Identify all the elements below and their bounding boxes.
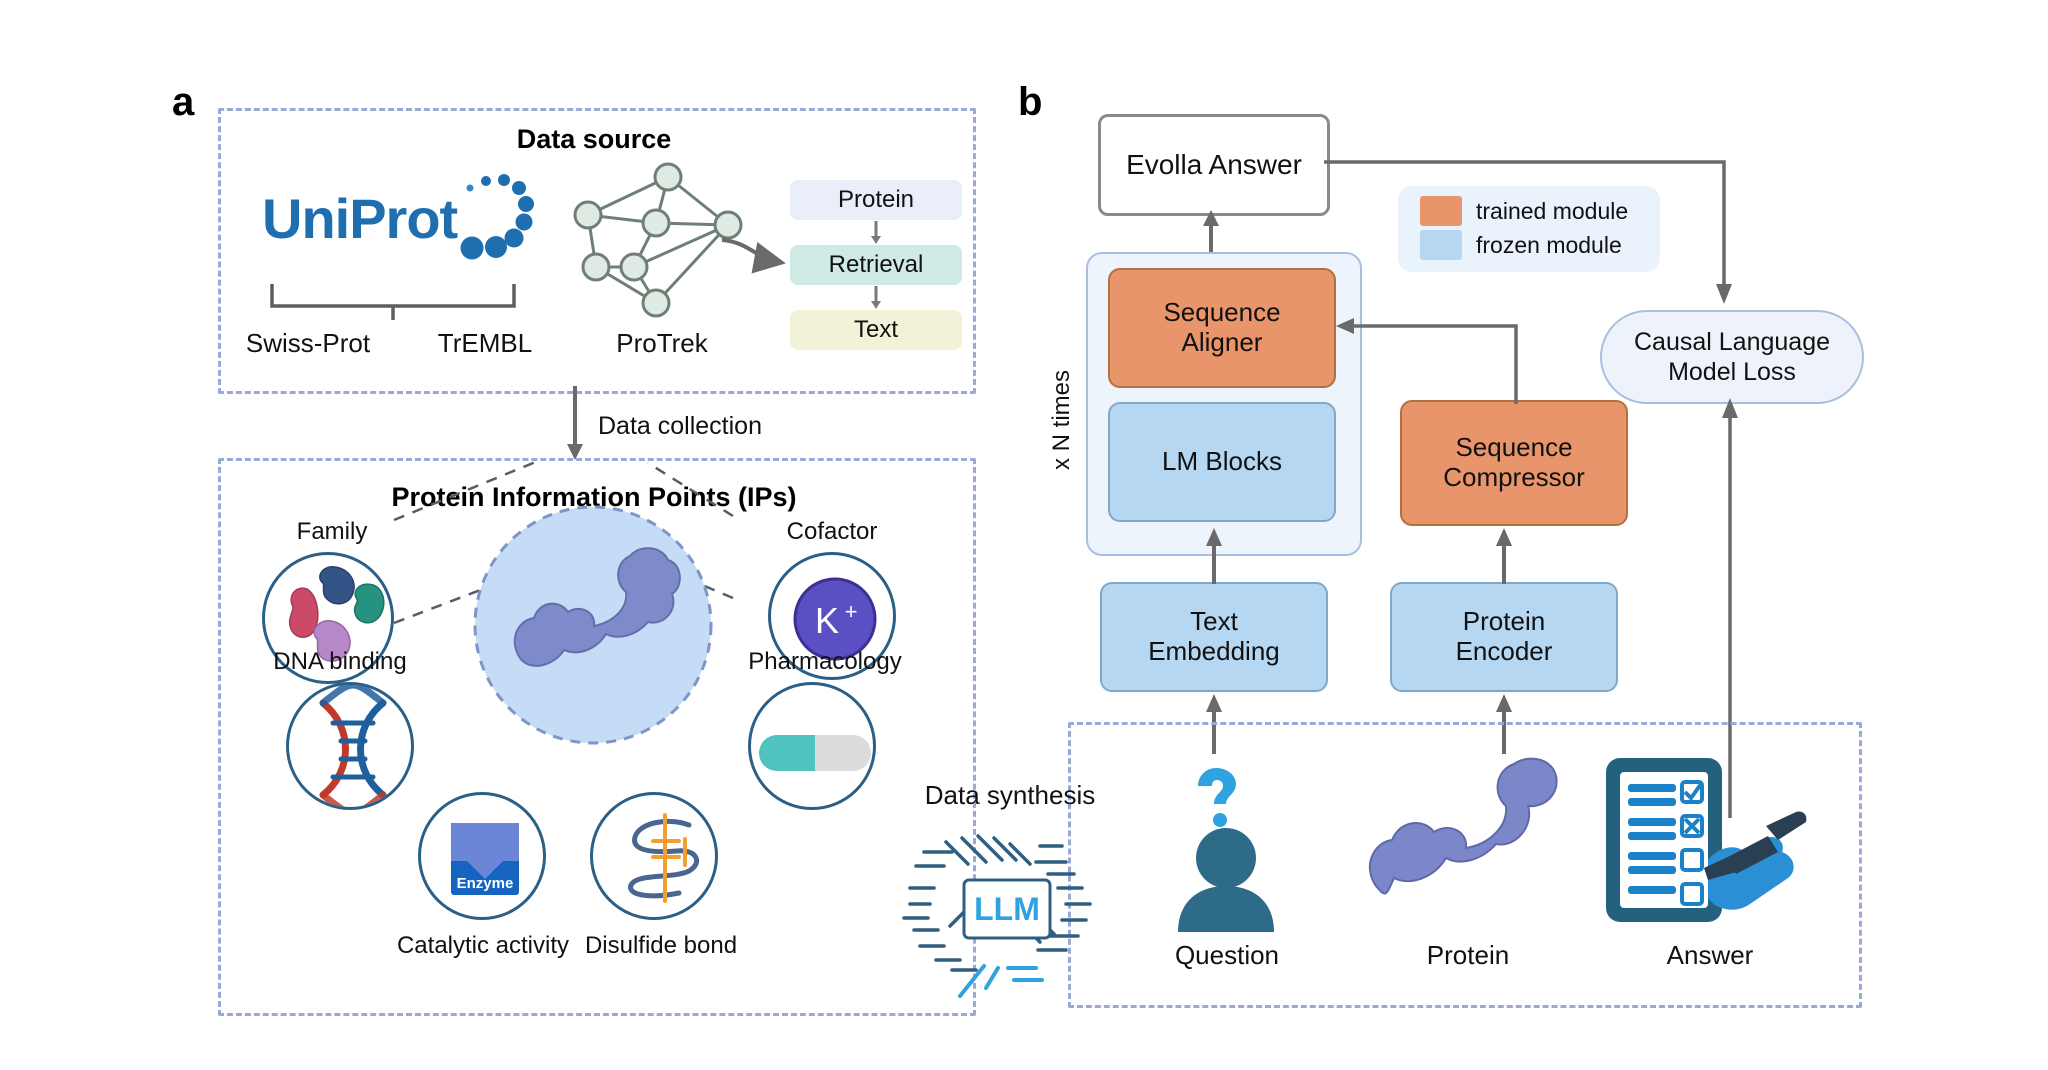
data-synthesis-label: Data synthesis [900, 780, 1120, 811]
data-collection-arrow [560, 386, 590, 460]
checklist-hand-icon [1590, 752, 1810, 932]
source-label-swiss-prot: Swiss-Prot [218, 328, 398, 359]
text-embedding-to-lm-arrow [1201, 528, 1227, 584]
person-question-icon [1162, 762, 1292, 932]
protein-structure-icon [1358, 756, 1558, 926]
compressor-to-aligner-arrow [1330, 312, 1520, 408]
lm-blocks-label: LM Blocks [1162, 447, 1282, 477]
sequence-aligner-block: Sequence Aligner [1108, 268, 1336, 388]
pipeline-box-protein: Protein [790, 180, 962, 220]
data-source-title: Data source [218, 124, 970, 155]
ip-label-family: Family [262, 518, 402, 546]
protein-encoder-label-line1: Protein [1463, 607, 1545, 637]
sequence-aligner-label-line2: Aligner [1182, 328, 1263, 358]
disulfide-bond-icon [590, 792, 718, 920]
svg-text:K: K [815, 600, 839, 641]
protein-encoder-block: Protein Encoder [1390, 582, 1618, 692]
question-label: Question [1162, 940, 1292, 971]
protein-label: Protein [1398, 940, 1538, 971]
sequence-compressor-label-line1: Sequence [1455, 433, 1572, 463]
dna-helix-icon [286, 682, 414, 810]
causal-lm-loss-box: Causal Language Model Loss [1600, 310, 1864, 404]
answer-to-loss-connector [1324, 158, 1754, 318]
text-embedding-label-line1: Text [1190, 607, 1238, 637]
uniprot-logo: UniProt [258, 166, 538, 276]
llm-brain-icon: LLM [890, 818, 1120, 998]
sequence-compressor-block: Sequence Compressor [1400, 400, 1628, 526]
central-protein-hub [468, 500, 718, 750]
svg-text:+: + [845, 599, 858, 624]
sequence-aligner-label-line1: Sequence [1163, 298, 1280, 328]
protein-encoder-label-line2: Encoder [1456, 637, 1553, 667]
panel-a-letter: a [172, 80, 194, 125]
ip-label-pharmacology: Pharmacology [700, 648, 950, 676]
evolla-answer-box: Evolla Answer [1098, 114, 1330, 216]
capsule-pill-icon [748, 682, 876, 810]
ip-label-catalytic-activity: Catalytic activity [372, 932, 594, 960]
answer-label: Answer [1640, 940, 1780, 971]
protein-encoder-to-compressor-arrow [1491, 528, 1517, 584]
pipeline-box-text: Text [790, 310, 962, 350]
data-collection-label: Data collection [598, 412, 762, 441]
lm-blocks-block: LM Blocks [1108, 402, 1336, 522]
ip-label-disulfide-bond: Disulfide bond [566, 932, 756, 960]
protrek-to-pipeline-arrow [720, 230, 800, 290]
repeat-n-times-label: x N times [1048, 310, 1076, 470]
ip-label-cofactor: Cofactor [742, 518, 922, 546]
protrek-label: ProTrek [562, 328, 762, 359]
source-label-trembl: TrEMBL [400, 328, 570, 359]
ip-label-dna-binding: DNA binding [240, 648, 440, 676]
pipeline-arrow-1 [866, 221, 886, 245]
sequence-compressor-label-line2: Compressor [1443, 463, 1585, 493]
svg-text:LLM: LLM [974, 891, 1040, 927]
svg-text:UniProt: UniProt [262, 187, 458, 250]
pipeline-label-protein: Protein [838, 186, 914, 214]
pipeline-label-retrieval: Retrieval [829, 251, 924, 279]
causal-lm-loss-label-line2: Model Loss [1668, 357, 1796, 387]
svg-text:Enzyme: Enzyme [457, 875, 514, 892]
pipeline-arrow-2 [866, 286, 886, 310]
evolla-answer-label: Evolla Answer [1126, 149, 1302, 181]
panel-b-letter: b [1018, 80, 1042, 125]
text-embedding-label-line2: Embedding [1148, 637, 1280, 667]
causal-lm-loss-label-line1: Causal Language [1634, 327, 1830, 357]
text-embedding-block: Text Embedding [1100, 582, 1328, 692]
uniprot-sources-bracket [268, 280, 518, 320]
pipeline-box-retrieval: Retrieval [790, 245, 962, 285]
pipeline-label-text: Text [854, 316, 898, 344]
enzyme-icon: Enzyme [418, 792, 546, 920]
